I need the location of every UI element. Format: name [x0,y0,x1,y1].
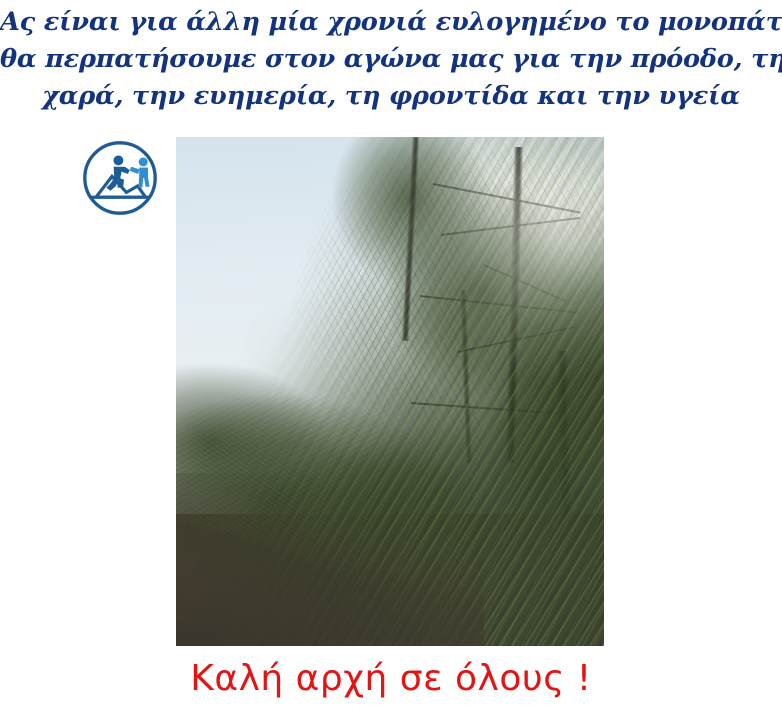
photo-embankment [176,473,484,646]
headline-text: Ας είναι για άλλη μία χρονιά ευλογημένο … [0,0,782,115]
headline-line-3: χαρά, την ευημερία, τη φροντίδα και την … [0,78,782,115]
caption-text: Καλή αρχή σε όλους ! [0,657,782,701]
headline-line-2: θα περπατήσουμε στον αγώνα μας για την π… [0,41,782,78]
forest-trail-photo [176,137,604,646]
hiking-club-emblem-icon [80,138,160,218]
headline-line-1: Ας είναι για άλλη μία χρονιά ευλογημένο … [0,4,782,41]
